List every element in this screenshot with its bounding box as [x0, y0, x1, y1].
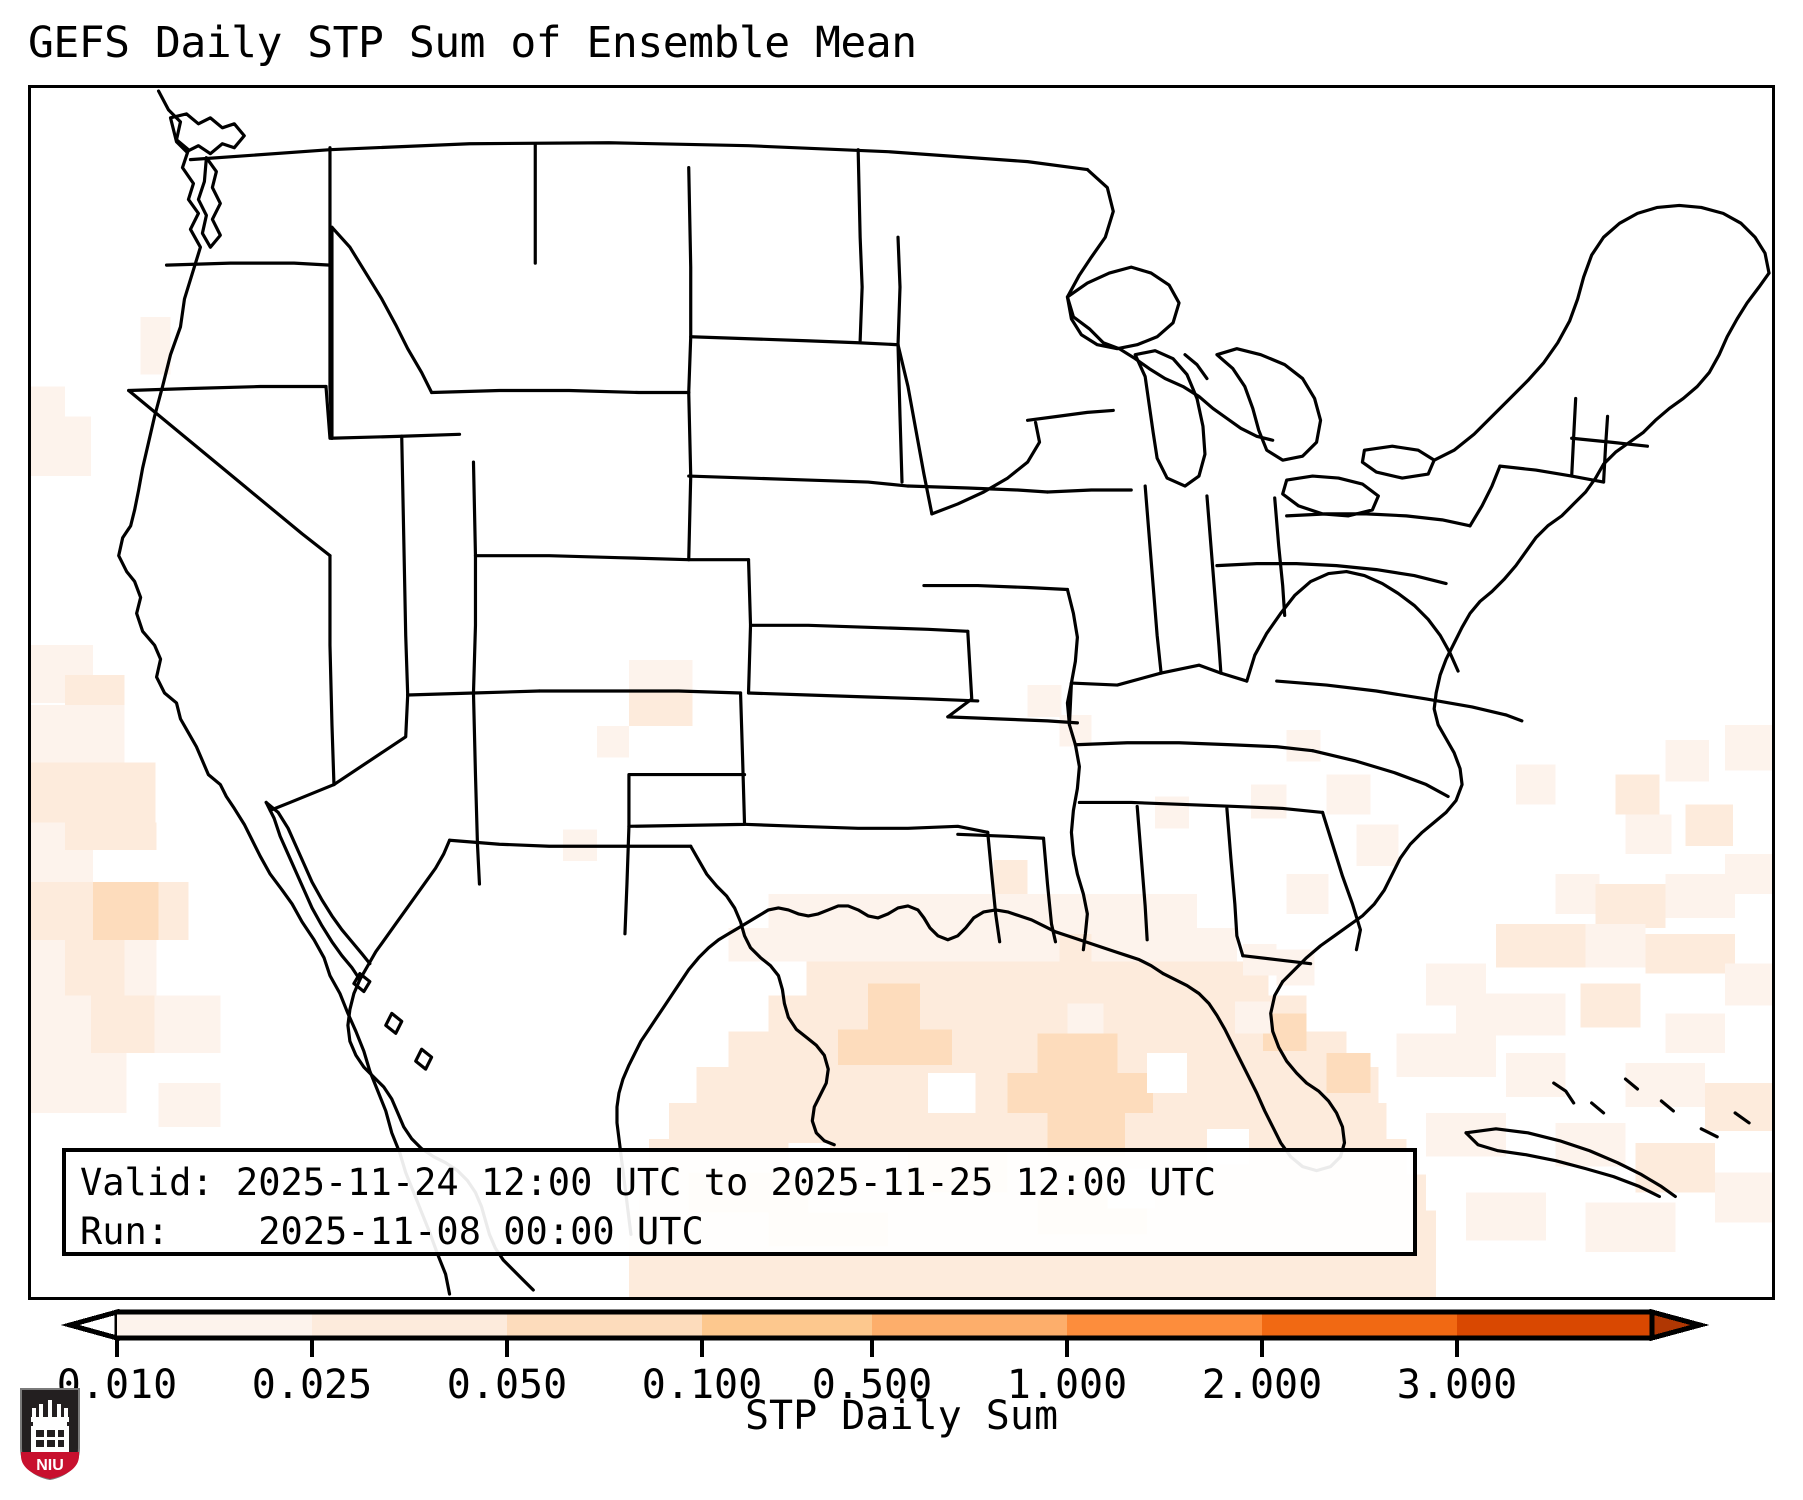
colorbar-tick-label: 2.000: [1202, 1362, 1322, 1408]
valid-time-line: Valid: 2025-11-24 12:00 UTC to 2025-11-2…: [80, 1158, 1399, 1207]
colorbar: 0.010 0.025 0.050 0.100 0.500 1.000 2.00…: [0, 1300, 1803, 1500]
geography-layer: [31, 88, 1772, 1297]
colorbar-tick-label: 0.050: [447, 1362, 567, 1408]
colorbar-tick-label: 0.025: [252, 1362, 372, 1408]
niu-logo: NIU: [18, 1386, 82, 1482]
map-plot-frame: [28, 85, 1775, 1300]
forecast-info-box: Valid: 2025-11-24 12:00 UTC to 2025-11-2…: [62, 1148, 1417, 1256]
page-title: GEFS Daily STP Sum of Ensemble Mean: [28, 18, 917, 68]
run-time-line: Run: 2025-11-08 00:00 UTC: [80, 1207, 1399, 1256]
colorbar-axis-label: STP Daily Sum: [745, 1393, 1058, 1439]
logo-text: NIU: [36, 1457, 64, 1474]
colorbar-tick-label: 3.000: [1397, 1362, 1517, 1408]
